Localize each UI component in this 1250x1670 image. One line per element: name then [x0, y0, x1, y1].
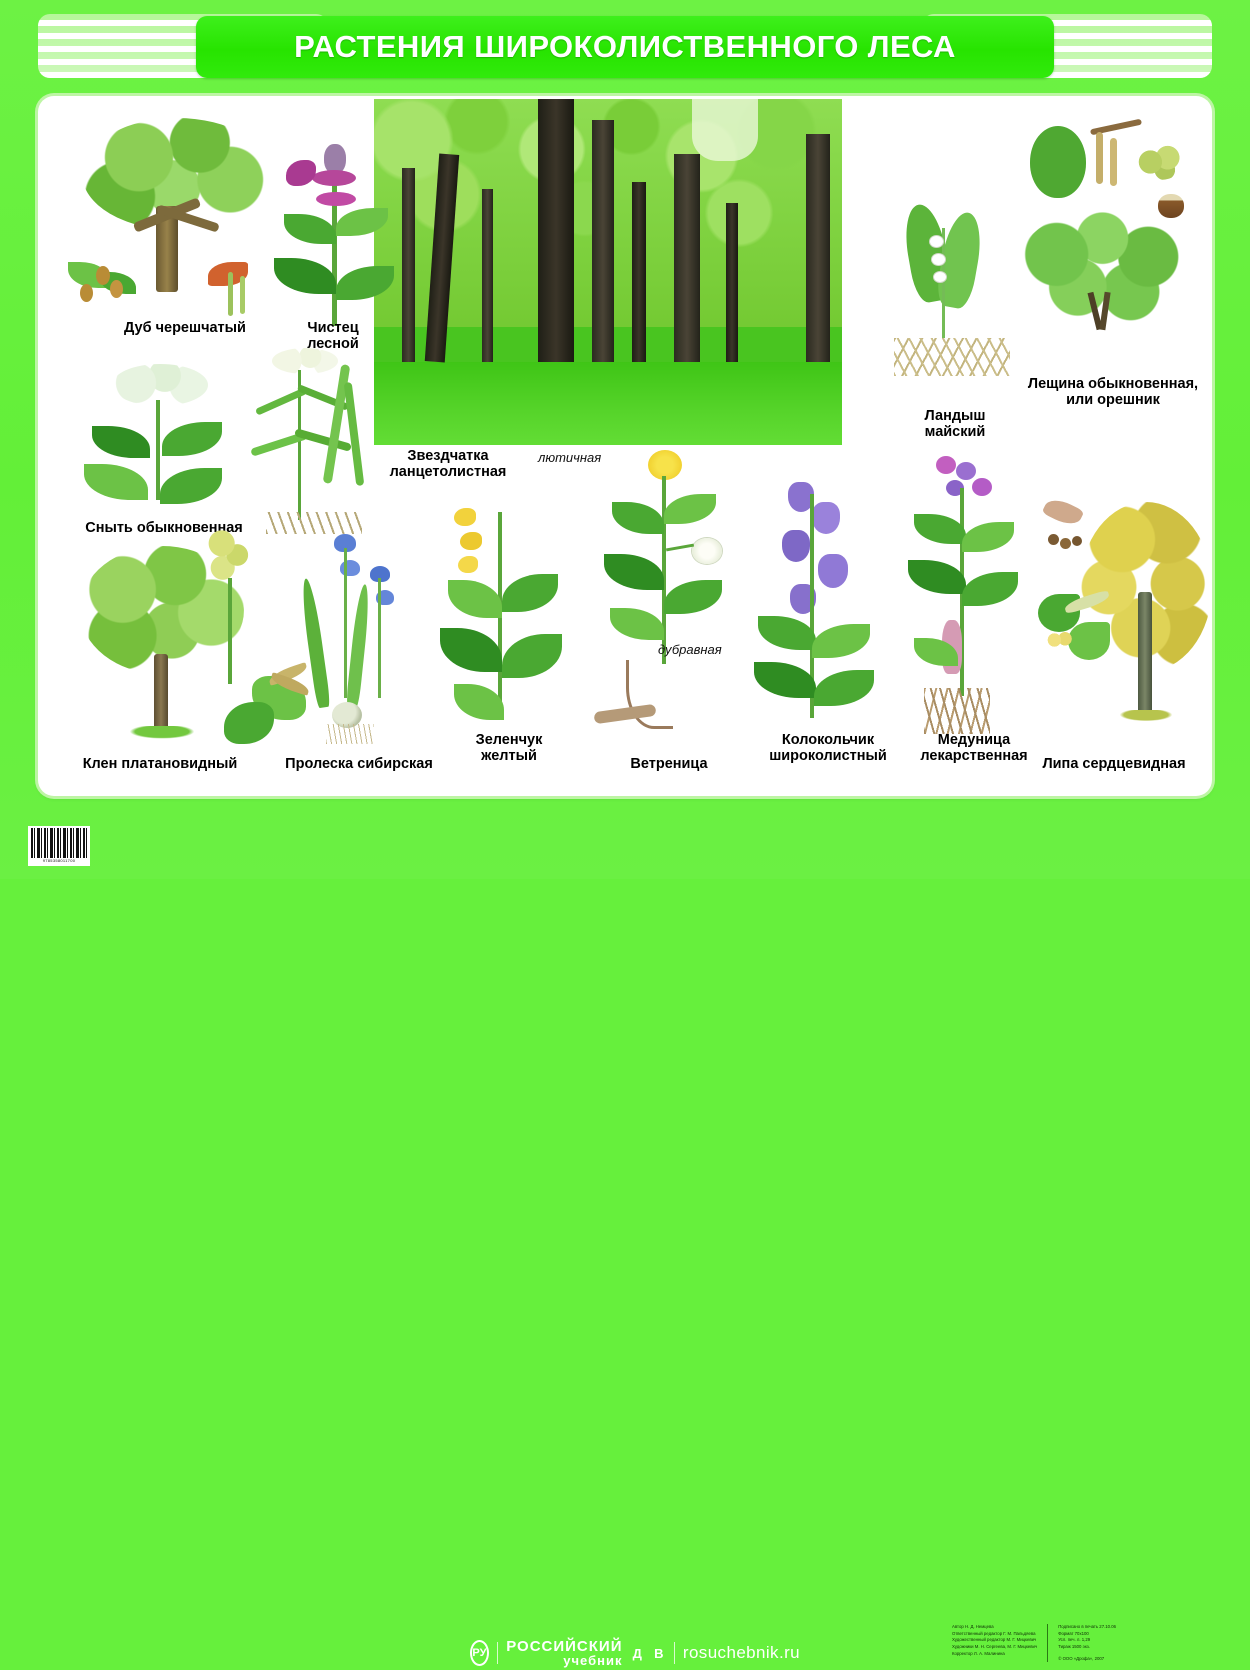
imprint-line: Формат 70х100: [1058, 1631, 1116, 1638]
aegopodium-leaf: [84, 464, 148, 500]
caption-anemone: Ветреница: [594, 756, 744, 772]
brand-word-bottom: учебник: [563, 1654, 622, 1667]
convallaria-bell: [934, 272, 946, 282]
illustration-stachys: [268, 126, 398, 326]
imprint-line: Усл. печ. л. 1,29: [1058, 1637, 1116, 1644]
tilia-leaf: [1068, 622, 1110, 660]
barcode-bars: [31, 828, 87, 858]
illustration-stellaria: [236, 344, 396, 544]
galeobdolon-leaf: [502, 634, 562, 678]
tilia-ground: [1116, 710, 1176, 722]
aegopodium-leaf: [162, 422, 222, 456]
corylus-nut-husk: [1136, 144, 1184, 180]
annotation-anemone-ranunculoides: лютичная: [538, 450, 601, 465]
pulmonaria-leaf: [962, 572, 1018, 606]
caption-stellaria: Звездчатка ланцетолистная: [368, 448, 528, 480]
anemone-leaf: [610, 608, 664, 640]
publisher-website[interactable]: rosuchebnik.ru: [683, 1643, 800, 1663]
illustration-convallaria: [890, 196, 1020, 396]
illustration-corylus: [1016, 116, 1212, 366]
photo-trunk: [806, 134, 830, 362]
anemone-leaf: [664, 494, 716, 524]
campanula-bell: [812, 502, 840, 534]
photo-trunk: [482, 189, 493, 362]
pulmonaria-flower: [972, 478, 992, 496]
corylus-nut: [1158, 194, 1184, 218]
maple-trunk: [154, 654, 168, 734]
campanula-leaf: [812, 624, 870, 658]
stachys-flower: [312, 170, 356, 186]
convallaria-bell: [932, 254, 945, 265]
illustration-anemone: [586, 442, 766, 742]
pulmonaria-leaf: [914, 514, 966, 544]
publisher-brand-bar: РУ РОССИЙСКИЙ учебник Д В rosuchebnik.ru: [470, 1636, 800, 1670]
campanula-leaf: [758, 616, 816, 650]
pulmonaria-leaf: [908, 560, 966, 594]
imprint-line: Тираж 1500 экз.: [1058, 1644, 1116, 1651]
photo-sky-gap: [692, 99, 758, 161]
anemone-pedicel: [666, 544, 694, 552]
galeobdolon-leaf: [448, 580, 502, 618]
brand-divider: [674, 1642, 675, 1664]
aegopodium-leaf: [92, 426, 150, 458]
imprint-credits: Автор Н. Д. Немцева Ответственный редакт…: [952, 1624, 1037, 1662]
pulmonaria-flower: [956, 462, 976, 480]
illustration-galeobdolon: [428, 502, 588, 752]
pulmonaria-roots: [924, 688, 990, 734]
illustration-aegopodium: [74, 364, 254, 514]
scilla-flower: [340, 560, 360, 576]
acorn: [110, 280, 123, 298]
aegopodium-leaf: [160, 468, 222, 504]
pulmonaria-flower: [936, 456, 956, 474]
title-bar: РАСТЕНИЯ ШИРОКОЛИСТВЕННОГО ЛЕСА: [196, 16, 1054, 78]
illustration-campanula: [744, 476, 904, 746]
poster-footer: 9785358011700 РУ РОССИЙСКИЙ учебник Д В …: [0, 800, 1250, 879]
poster-header: РАСТЕНИЯ ШИРОКОЛИСТВЕННОГО ЛЕСА: [0, 0, 1250, 92]
annotation-anemone-nemorosa: дубравная: [658, 642, 722, 657]
galeobdolon-flower: [454, 508, 476, 526]
stachys-leaf: [336, 266, 394, 300]
caption-corylus: Лещина обыкновенная, или орешник: [998, 376, 1212, 408]
caption-convallaria: Ландыш майский: [880, 408, 1030, 440]
corylus-catkin: [1096, 132, 1103, 184]
tilia-fruit: [1060, 538, 1071, 549]
imprint-line: Художники М. Н. Сергеева, М. Г. Мицкевич: [952, 1644, 1037, 1651]
barcode: 9785358011700: [28, 826, 90, 866]
photo-trunk: [592, 120, 614, 362]
stachys-flower-detail: [286, 160, 316, 186]
imprint-line: Автор Н. Д. Немцева: [952, 1624, 1037, 1631]
stellaria-flowers: [272, 348, 338, 374]
stachys-leaf: [284, 214, 336, 244]
campanula-leaf: [754, 662, 816, 698]
forest-photo: [374, 99, 842, 445]
illustration-pulmonaria: [894, 452, 1054, 752]
photo-trunk: [538, 99, 574, 362]
tilia-bract: [1042, 495, 1085, 530]
barcode-digits: 9785358011700: [31, 858, 87, 863]
campanula-leaf: [814, 670, 874, 706]
convallaria-bell: [930, 236, 943, 247]
illustration-scilla: [286, 526, 426, 752]
photo-trunk: [726, 203, 738, 362]
poster-root: РАСТЕНИЯ ШИРОКОЛИСТВЕННОГО ЛЕСА: [0, 0, 1250, 879]
acorn: [80, 284, 93, 302]
imprint-line: Корректор Л. А. Малинина: [952, 1651, 1037, 1658]
caption-galeobdolon: Зеленчук желтый: [434, 732, 584, 764]
tilia-fruit: [1072, 536, 1082, 546]
brand-wordmark: РОССИЙСКИЙ учебник: [506, 1639, 622, 1667]
convallaria-stem: [942, 228, 945, 338]
maple-flowers: [204, 526, 256, 584]
anemone-leaf: [612, 502, 664, 534]
maple-ground: [124, 726, 200, 740]
caption-tilia: Липа сердцевидная: [1006, 756, 1212, 772]
caption-maple: Клен платановидный: [52, 756, 268, 772]
copyright-line: © ООО «Дрофа», 2007: [1058, 1656, 1116, 1663]
page-title: РАСТЕНИЯ ШИРОКОЛИСТВЕННОГО ЛЕСА: [294, 29, 956, 65]
corylus-catkin: [1110, 138, 1117, 186]
anemone-white-flower: [692, 538, 722, 564]
photo-trunk: [402, 168, 415, 362]
imprint-block: Автор Н. Д. Немцева Ответственный редакт…: [952, 1624, 1116, 1662]
imprint-line: Ответственный редактор Г. М. Пальдяева: [952, 1631, 1037, 1638]
stachys-leaf: [274, 258, 336, 294]
stellaria-blade: [344, 382, 365, 486]
caption-scilla: Пролеска сибирская: [264, 756, 454, 772]
scilla-stem: [344, 548, 347, 698]
campanula-bell: [818, 554, 848, 588]
imprint-line: Художественный редактор М. Г. Мицкевич: [952, 1637, 1037, 1644]
tilia-fruit: [1048, 534, 1059, 545]
galeobdolon-flower: [460, 532, 482, 550]
galeobdolon-flower: [458, 556, 478, 573]
brand-divider: [497, 1642, 498, 1664]
imprint-separator: [1047, 1624, 1048, 1662]
acorn: [96, 266, 110, 285]
drofa-logo-icon: Д: [631, 1643, 645, 1663]
oak-catkin: [240, 276, 245, 314]
brand-word-top: РОССИЙСКИЙ: [506, 1639, 622, 1654]
rossiyskiy-uchebnik-monogram-icon: РУ: [470, 1640, 489, 1666]
imprint-production: Подписано в печать 27.10.06 Формат 70х10…: [1058, 1624, 1116, 1662]
content-board: Дуб черешчатый Чистец лесной Сныть обыкн…: [38, 96, 1212, 796]
stachys-flower: [316, 192, 356, 206]
scilla-leaf: [346, 584, 372, 709]
maple-leaf: [224, 702, 274, 744]
galeobdolon-leaf: [502, 574, 558, 612]
convallaria-rhizome: [894, 338, 1010, 376]
scilla-leaf: [299, 578, 331, 709]
anemone-leaf: [664, 580, 722, 614]
photo-grass: [374, 362, 842, 445]
campanula-bell: [782, 530, 810, 562]
imprint-line: Подписано в печать 27.10.06: [1058, 1624, 1116, 1631]
aegopodium-stem: [156, 400, 160, 500]
photo-trunk: [632, 182, 646, 362]
galeobdolon-leaf: [440, 628, 502, 672]
maple-stem: [228, 578, 232, 684]
stachys-leaf: [336, 208, 388, 236]
photo-trunk: [674, 154, 700, 362]
pulmonaria-leaf: [962, 522, 1014, 552]
scilla-roots: [326, 724, 374, 744]
tilia-flowers: [1046, 630, 1074, 650]
illustration-tilia: [1038, 496, 1212, 746]
scilla-stem: [378, 578, 381, 698]
tilia-trunk: [1138, 592, 1152, 718]
corylus-leaf: [1030, 126, 1086, 198]
anemone-leaf: [604, 554, 664, 590]
galeobdolon-leaf: [454, 684, 504, 720]
ventana-graf-logo-icon: В: [652, 1643, 666, 1663]
oak-catkin: [228, 272, 233, 316]
aegopodium-umbel: [112, 364, 208, 406]
